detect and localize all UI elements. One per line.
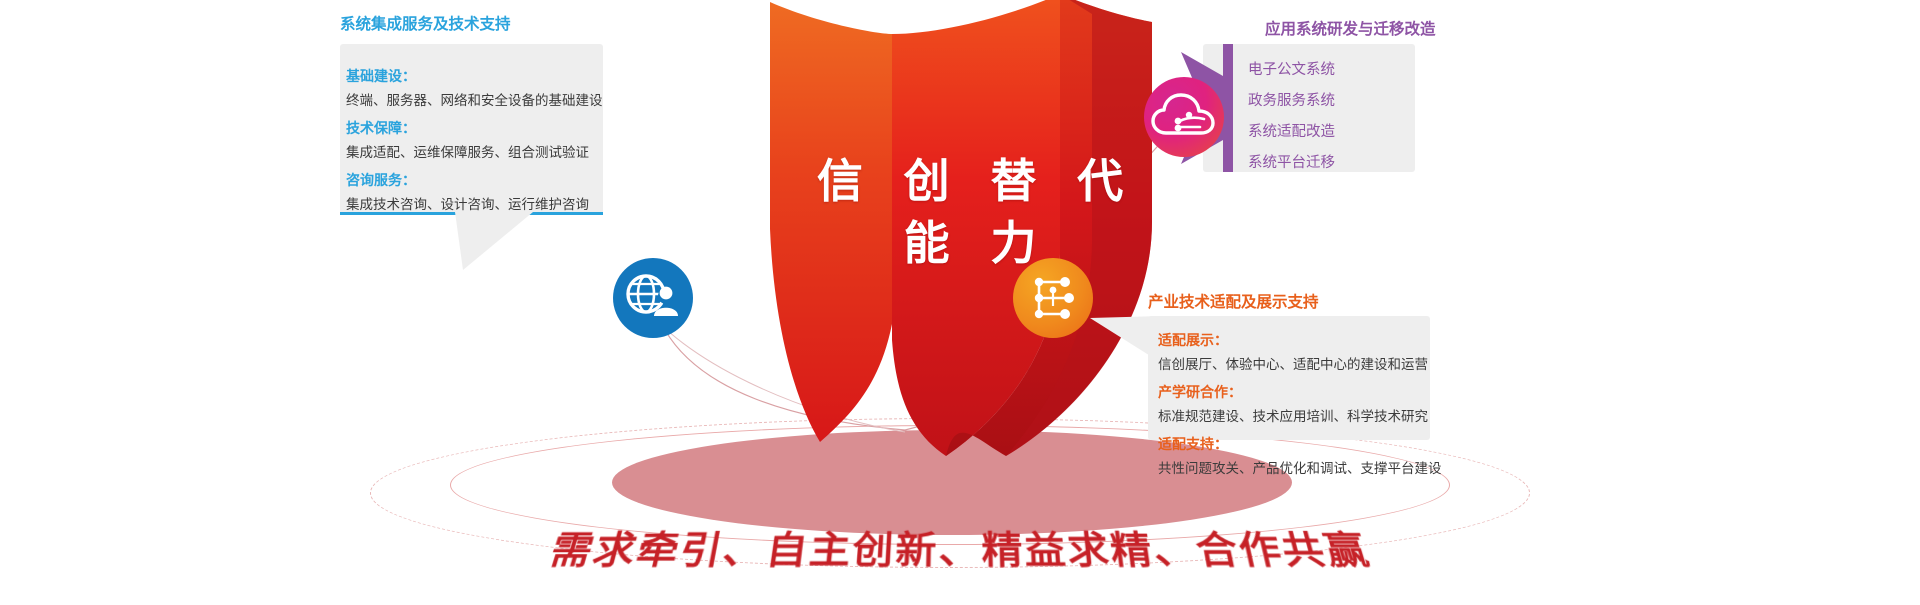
panel-item-key: 技术保障： [346, 118, 598, 138]
panel-item-key: 咨询服务： [346, 170, 598, 190]
panel-item: 适配展示： 信创展厅、体验中心、适配中心的建设和运营 [1158, 330, 1426, 373]
panel-pointer-industry-adaptation [1090, 316, 1160, 376]
panel-body-industry-adaptation: 适配展示： 信创展厅、体验中心、适配中心的建设和运营 产学研合作： 标准规范建设… [1158, 330, 1426, 477]
central-shield [760, 0, 1180, 464]
bottom-slogan: 需求牵引、自主创新、精益求精、合作共赢 [0, 520, 1920, 574]
panel-item-value: 标准规范建设、技术应用培训、科学技术研究 [1158, 405, 1426, 425]
panel-item-value: 集成适配、运维保障服务、组合测试验证 [346, 141, 598, 161]
panel-item-value: 政务服务系统 [1248, 89, 1418, 110]
panel-item-key: 适配支持： [1158, 434, 1426, 454]
panel-item-value: 信创展厅、体验中心、适配中心的建设和运营 [1158, 353, 1426, 373]
panel-header-industry-adaptation: 产业技术适配及展示支持 [1148, 290, 1319, 312]
globe-user-icon [613, 258, 693, 338]
cloud-network-icon [1144, 77, 1224, 157]
panel-item-value: 系统适配改造 [1248, 120, 1418, 141]
panel-header-system-integration: 系统集成服务及技术支持 [340, 12, 511, 34]
panel-item: 技术保障： 集成适配、运维保障服务、组合测试验证 [346, 118, 598, 161]
panel-item-value: 共性问题攻关、产品优化和调试、支撑平台建设 [1158, 457, 1426, 477]
panel-item: 咨询服务： 集成技术咨询、设计咨询、运行维护咨询 [346, 170, 598, 213]
panel-body-system-integration: 基础建设： 终端、服务器、网络和安全设备的基础建设 技术保障： 集成适配、运维保… [346, 66, 598, 213]
panel-item-value: 集成技术咨询、设计咨询、运行维护咨询 [346, 193, 598, 213]
panel-pointer-system-integration [455, 212, 565, 274]
panel-item: 适配支持： 共性问题攻关、产品优化和调试、支撑平台建设 [1158, 434, 1426, 477]
panel-header-app-development: 应用系统研发与迁移改造 [1265, 17, 1436, 39]
node-network-icon [1013, 258, 1093, 338]
panel-item: 基础建设： 终端、服务器、网络和安全设备的基础建设 [346, 66, 598, 109]
panel-item: 产学研合作： 标准规范建设、技术应用培训、科学技术研究 [1158, 382, 1426, 425]
panel-item-value: 终端、服务器、网络和安全设备的基础建设 [346, 89, 598, 109]
panel-item-value: 电子公文系统 [1248, 58, 1418, 79]
panel-item-key: 产学研合作： [1158, 382, 1426, 402]
panel-item-key: 基础建设： [346, 66, 598, 86]
panel-body-app-development: 电子公文系统 政务服务系统 系统适配改造 系统平台迁移 [1248, 58, 1418, 172]
panel-item-value: 系统平台迁移 [1248, 151, 1418, 172]
infographic-stage: 信 创 替 代 能 力 系统集成服务及技术支持 基础建设： 终端、服务器、网络和… [0, 0, 1920, 605]
panel-item-key: 适配展示： [1158, 330, 1426, 350]
